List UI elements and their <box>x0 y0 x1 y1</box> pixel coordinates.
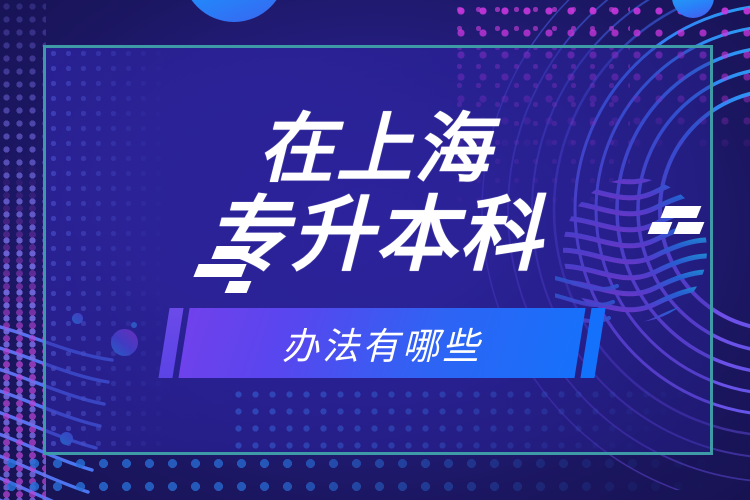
white-shard-icon <box>193 264 246 277</box>
banner-accent-bar-right <box>580 308 605 378</box>
poster-banner: 在上海 专升本科 办法有哪些 <box>0 0 750 500</box>
striped-sphere-icon <box>555 170 715 330</box>
subtitle-text: 办法有哪些 <box>184 308 580 378</box>
subtitle-banner: 办法有哪些 <box>0 308 750 386</box>
white-shard-icon <box>674 222 705 234</box>
white-shard-icon <box>661 206 702 218</box>
white-shard-icon <box>211 246 250 259</box>
circle-tiny-lower-icon <box>60 432 73 445</box>
